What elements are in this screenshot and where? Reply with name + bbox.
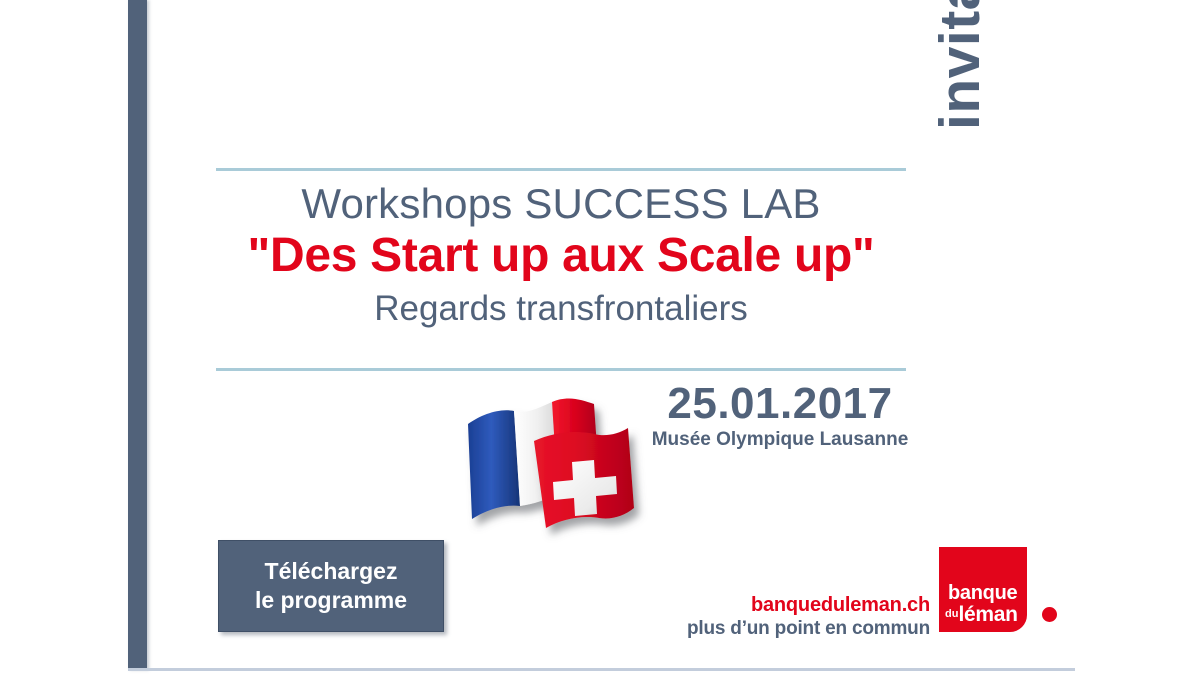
- invitation-vertical-label: invitation: [930, 0, 990, 130]
- event-venue: Musée Olympique Lausanne: [620, 430, 940, 451]
- logo-text-leman: duléman: [945, 604, 1018, 625]
- brand-text-block: banqueduleman.ch plus d’un point en comm…: [640, 594, 930, 640]
- workshop-headline: "Des Start up aux Scale up": [216, 229, 906, 283]
- event-date-block: 25.01.2017 Musée Olympique Lausanne: [620, 382, 940, 451]
- download-programme-button[interactable]: Téléchargez le programme: [218, 540, 444, 632]
- banque-du-leman-logo: banque duléman: [939, 547, 1079, 632]
- logo-text-du: du: [945, 608, 958, 620]
- logo-red-dot: [1042, 607, 1057, 622]
- title-rule-top: [216, 168, 906, 171]
- brand-tagline: plus d’un point en commun: [640, 618, 930, 640]
- invitation-slide: invitation Workshops SUCCESS LAB "Des St…: [0, 0, 1200, 675]
- logo-text-banque: banque: [948, 583, 1017, 603]
- workshop-eyebrow: Workshops SUCCESS LAB: [216, 180, 906, 227]
- title-block: Workshops SUCCESS LAB "Des Start up aux …: [216, 180, 906, 329]
- workshop-subhead: Regards transfrontaliers: [216, 289, 906, 329]
- bottom-accent-rule: [128, 668, 1075, 671]
- logo-red-box: banque duléman: [939, 547, 1027, 632]
- event-date: 25.01.2017: [620, 382, 940, 426]
- title-rule-bottom: [216, 368, 906, 371]
- brand-website-url[interactable]: banqueduleman.ch: [640, 594, 930, 617]
- download-button-line1: Téléchargez: [265, 557, 398, 586]
- left-accent-bar: [128, 0, 147, 670]
- download-button-line2: le programme: [255, 586, 407, 615]
- logo-text-leman-word: léman: [958, 603, 1017, 626]
- switzerland-flag-icon: [534, 428, 634, 528]
